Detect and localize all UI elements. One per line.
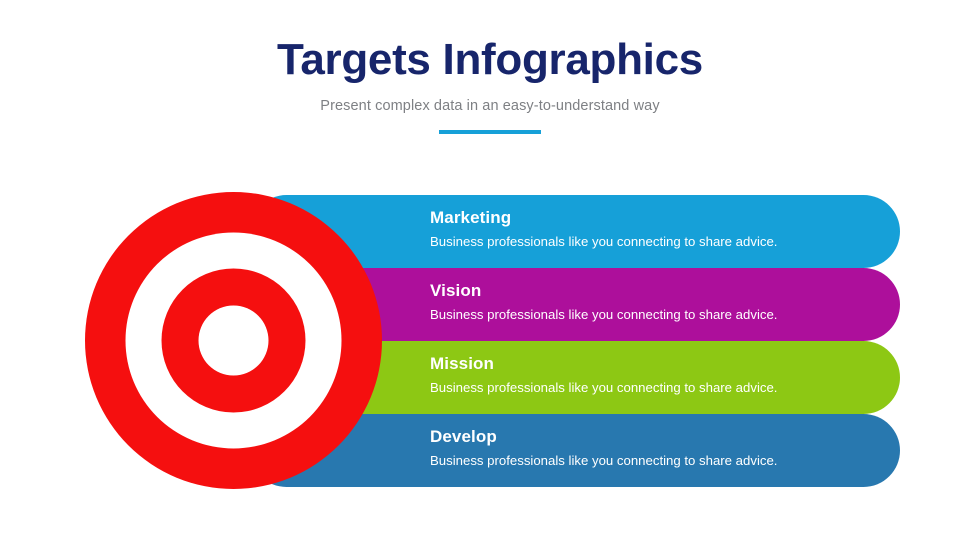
item-title: Marketing — [430, 207, 900, 229]
target-bullseye-center — [199, 306, 269, 376]
item-title: Develop — [430, 426, 900, 448]
infographic-slide: Targets Infographics Present complex dat… — [0, 0, 980, 551]
page-subtitle: Present complex data in an easy-to-under… — [0, 96, 980, 116]
bullseye-target-icon — [85, 192, 382, 489]
item-title: Mission — [430, 353, 900, 375]
item-description: Business professionals like you connecti… — [430, 232, 900, 251]
accent-divider — [439, 130, 541, 134]
item-description: Business professionals like you connecti… — [430, 378, 900, 397]
item-title: Vision — [430, 280, 900, 302]
item-description: Business professionals like you connecti… — [430, 305, 900, 324]
slide-header: Targets Infographics Present complex dat… — [0, 34, 980, 134]
item-description: Business professionals like you connecti… — [430, 451, 900, 470]
page-title: Targets Infographics — [0, 34, 980, 86]
